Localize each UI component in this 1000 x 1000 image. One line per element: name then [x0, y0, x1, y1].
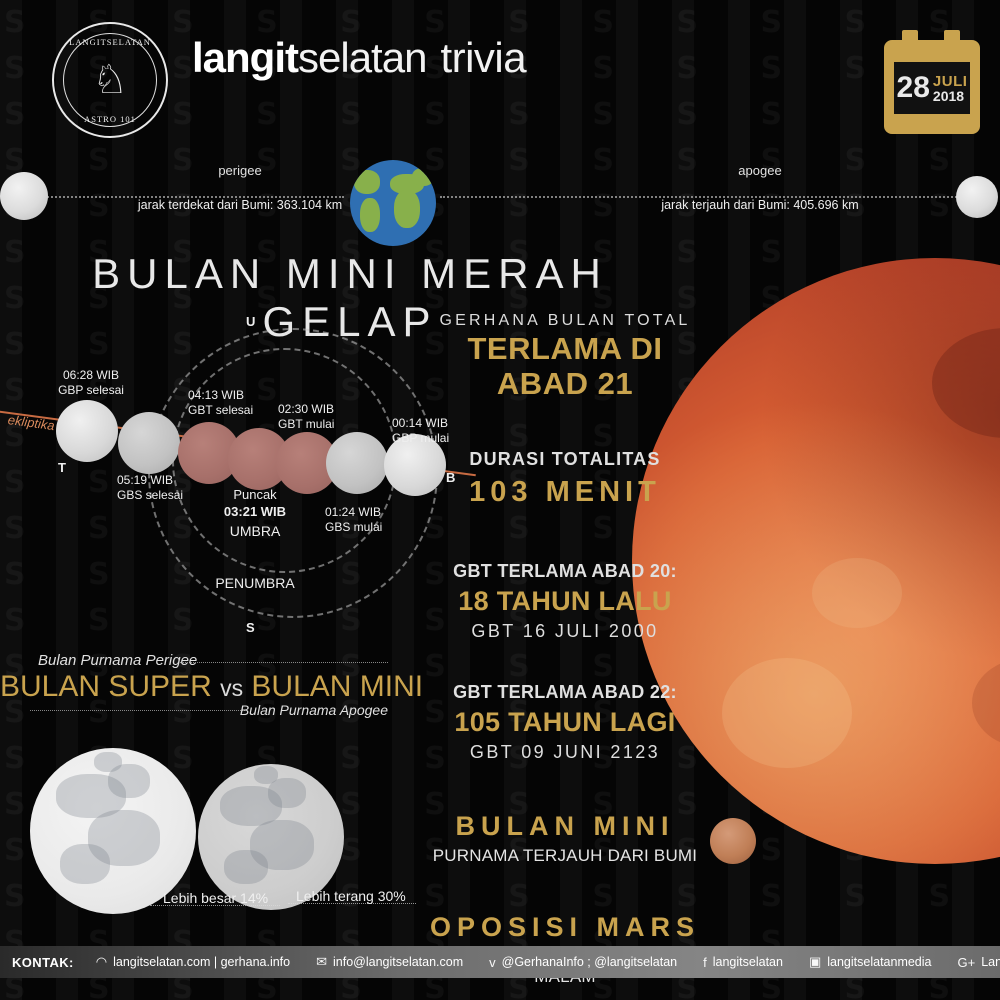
- stats-column: GERHANA BULAN TOTAL TERLAMA DI ABAD 21 D…: [420, 312, 710, 987]
- compare-size-label: Lebih besar 14%: [163, 890, 268, 906]
- eclipse-headline: TERLAMA DI ABAD 21: [420, 332, 710, 401]
- century20-detail: GBT 16 JULI 2000: [420, 621, 710, 642]
- cardinal-north: U: [246, 314, 255, 329]
- compare-title-vs: vs: [220, 675, 243, 701]
- footer-item-googleplus[interactable]: G+ LangitselatanMedia: [958, 955, 1000, 970]
- mars-illustration: [710, 818, 756, 864]
- logo-bottom-text: ASTRO 101: [54, 114, 166, 124]
- compare-caption-bottom: Bulan Purnama Apogee: [240, 702, 388, 718]
- contact-footer: KONTAK: ◠ langitselatan.com | gerhana.in…: [0, 946, 1000, 978]
- facebook-icon: f: [703, 955, 707, 970]
- minimoon-title: BULAN MINI: [420, 811, 710, 842]
- moon-phase-6: [326, 432, 388, 494]
- phase-time-2: 05:19 WIB: [117, 473, 227, 488]
- duration-value: 103 MENIT: [420, 476, 710, 509]
- orbit-distance-row: perigee jarak terdekat dari Bumi: 363.10…: [0, 0, 1000, 90]
- perigee-moon-icon: [0, 172, 48, 220]
- compare-title: BULAN SUPER vs BULAN MINI: [0, 670, 420, 704]
- phase-label-4: 02:30 WIB GBT mulai: [278, 402, 388, 432]
- footer-item-instagram[interactable]: ▣ langitselatanmedia: [809, 954, 932, 970]
- mars-title: OPOSISI MARS: [420, 912, 710, 943]
- twitter-icon: ᴠ: [489, 955, 496, 970]
- compare-title-left: BULAN SUPER: [0, 670, 212, 703]
- compare-caption-top: Bulan Purnama Perigee: [38, 652, 197, 669]
- footer-item-facebook[interactable]: f langitselatan: [703, 955, 783, 970]
- peak-label: Puncak 03:21 WIB: [195, 487, 315, 519]
- duration-caption: DURASI TOTALITAS: [420, 449, 710, 470]
- peak-caption: Puncak: [195, 487, 315, 502]
- penumbra-label: PENUMBRA: [185, 576, 325, 591]
- footer-item-twitter[interactable]: ᴠ @GerhanaInfo ; @langitselatan: [489, 955, 677, 970]
- footer-instagram-text: langitselatanmedia: [827, 955, 931, 969]
- compare-title-right: BULAN MINI: [251, 670, 423, 703]
- phase-time-3: 04:13 WIB: [188, 388, 298, 403]
- eclipse-caption: GERHANA BULAN TOTAL: [420, 312, 710, 330]
- peak-time: 03:21 WIB: [195, 504, 315, 519]
- century20-value: 18 TAHUN LALU: [420, 586, 710, 617]
- phase-time-4: 02:30 WIB: [278, 402, 388, 417]
- phase-label-5: 01:24 WIB GBS mulai: [325, 505, 435, 535]
- footer-email-text: info@langitselatan.com: [333, 955, 463, 969]
- apogee-label: apogee: [590, 163, 930, 178]
- cardinal-south: S: [246, 620, 255, 635]
- compare-brightness-label: Lebih terang 30%: [296, 888, 406, 904]
- perigee-detail: jarak terdekat dari Bumi: 363.104 km: [110, 198, 370, 212]
- umbra-label: UMBRA: [195, 524, 315, 539]
- cardinal-west: T: [58, 460, 66, 475]
- compare-rule-top: [180, 662, 388, 663]
- century22-value: 105 TAHUN LAGI: [420, 707, 710, 738]
- footer-googleplus-text: LangitselatanMedia: [981, 955, 1000, 969]
- phase-event-1: GBP selesai: [36, 383, 146, 398]
- footer-item-email[interactable]: ✉ info@langitselatan.com: [316, 954, 463, 970]
- google-plus-icon: G+: [958, 955, 976, 970]
- century22-caption: GBT TERLAMA ABAD 22:: [420, 682, 710, 703]
- footer-twitter-text: @GerhanaInfo ; @langitselatan: [502, 955, 677, 969]
- perigee-label: perigee: [110, 163, 370, 178]
- perigee-label-group: perigee jarak terdekat dari Bumi: 363.10…: [110, 163, 370, 212]
- kontak-label: KONTAK:: [12, 955, 74, 970]
- rss-icon: ◠: [96, 954, 107, 970]
- apogee-moon-icon: [956, 176, 998, 218]
- phase-time-1: 06:28 WIB: [36, 368, 146, 383]
- century20-caption: GBT TERLAMA ABAD 20:: [420, 561, 710, 582]
- phase-label-1: 06:28 WIB GBP selesai: [36, 368, 146, 398]
- apogee-label-group: apogee jarak terjauh dari Bumi: 405.696 …: [590, 163, 930, 212]
- compare-rule-bottom: [30, 710, 245, 711]
- phase-event-5: GBS mulai: [325, 520, 435, 535]
- envelope-icon: ✉: [316, 954, 327, 970]
- footer-item-website[interactable]: ◠ langitselatan.com | gerhana.info: [96, 954, 290, 970]
- footer-website-text: langitselatan.com | gerhana.info: [113, 955, 290, 969]
- phase-time-5: 01:24 WIB: [325, 505, 435, 520]
- instagram-icon: ▣: [809, 954, 821, 970]
- minimoon-subtitle: PURNAMA TERJAUH DARI BUMI: [420, 846, 710, 866]
- century22-detail: GBT 09 JUNI 2123: [420, 742, 710, 763]
- calendar-year: 2018: [933, 89, 968, 103]
- moon-phase-2: [118, 412, 180, 474]
- moon-phase-1: [56, 400, 118, 462]
- footer-facebook-text: langitselatan: [713, 955, 783, 969]
- phase-event-4: GBT mulai: [278, 417, 388, 432]
- apogee-detail: jarak terjauh dari Bumi: 405.696 km: [590, 198, 930, 212]
